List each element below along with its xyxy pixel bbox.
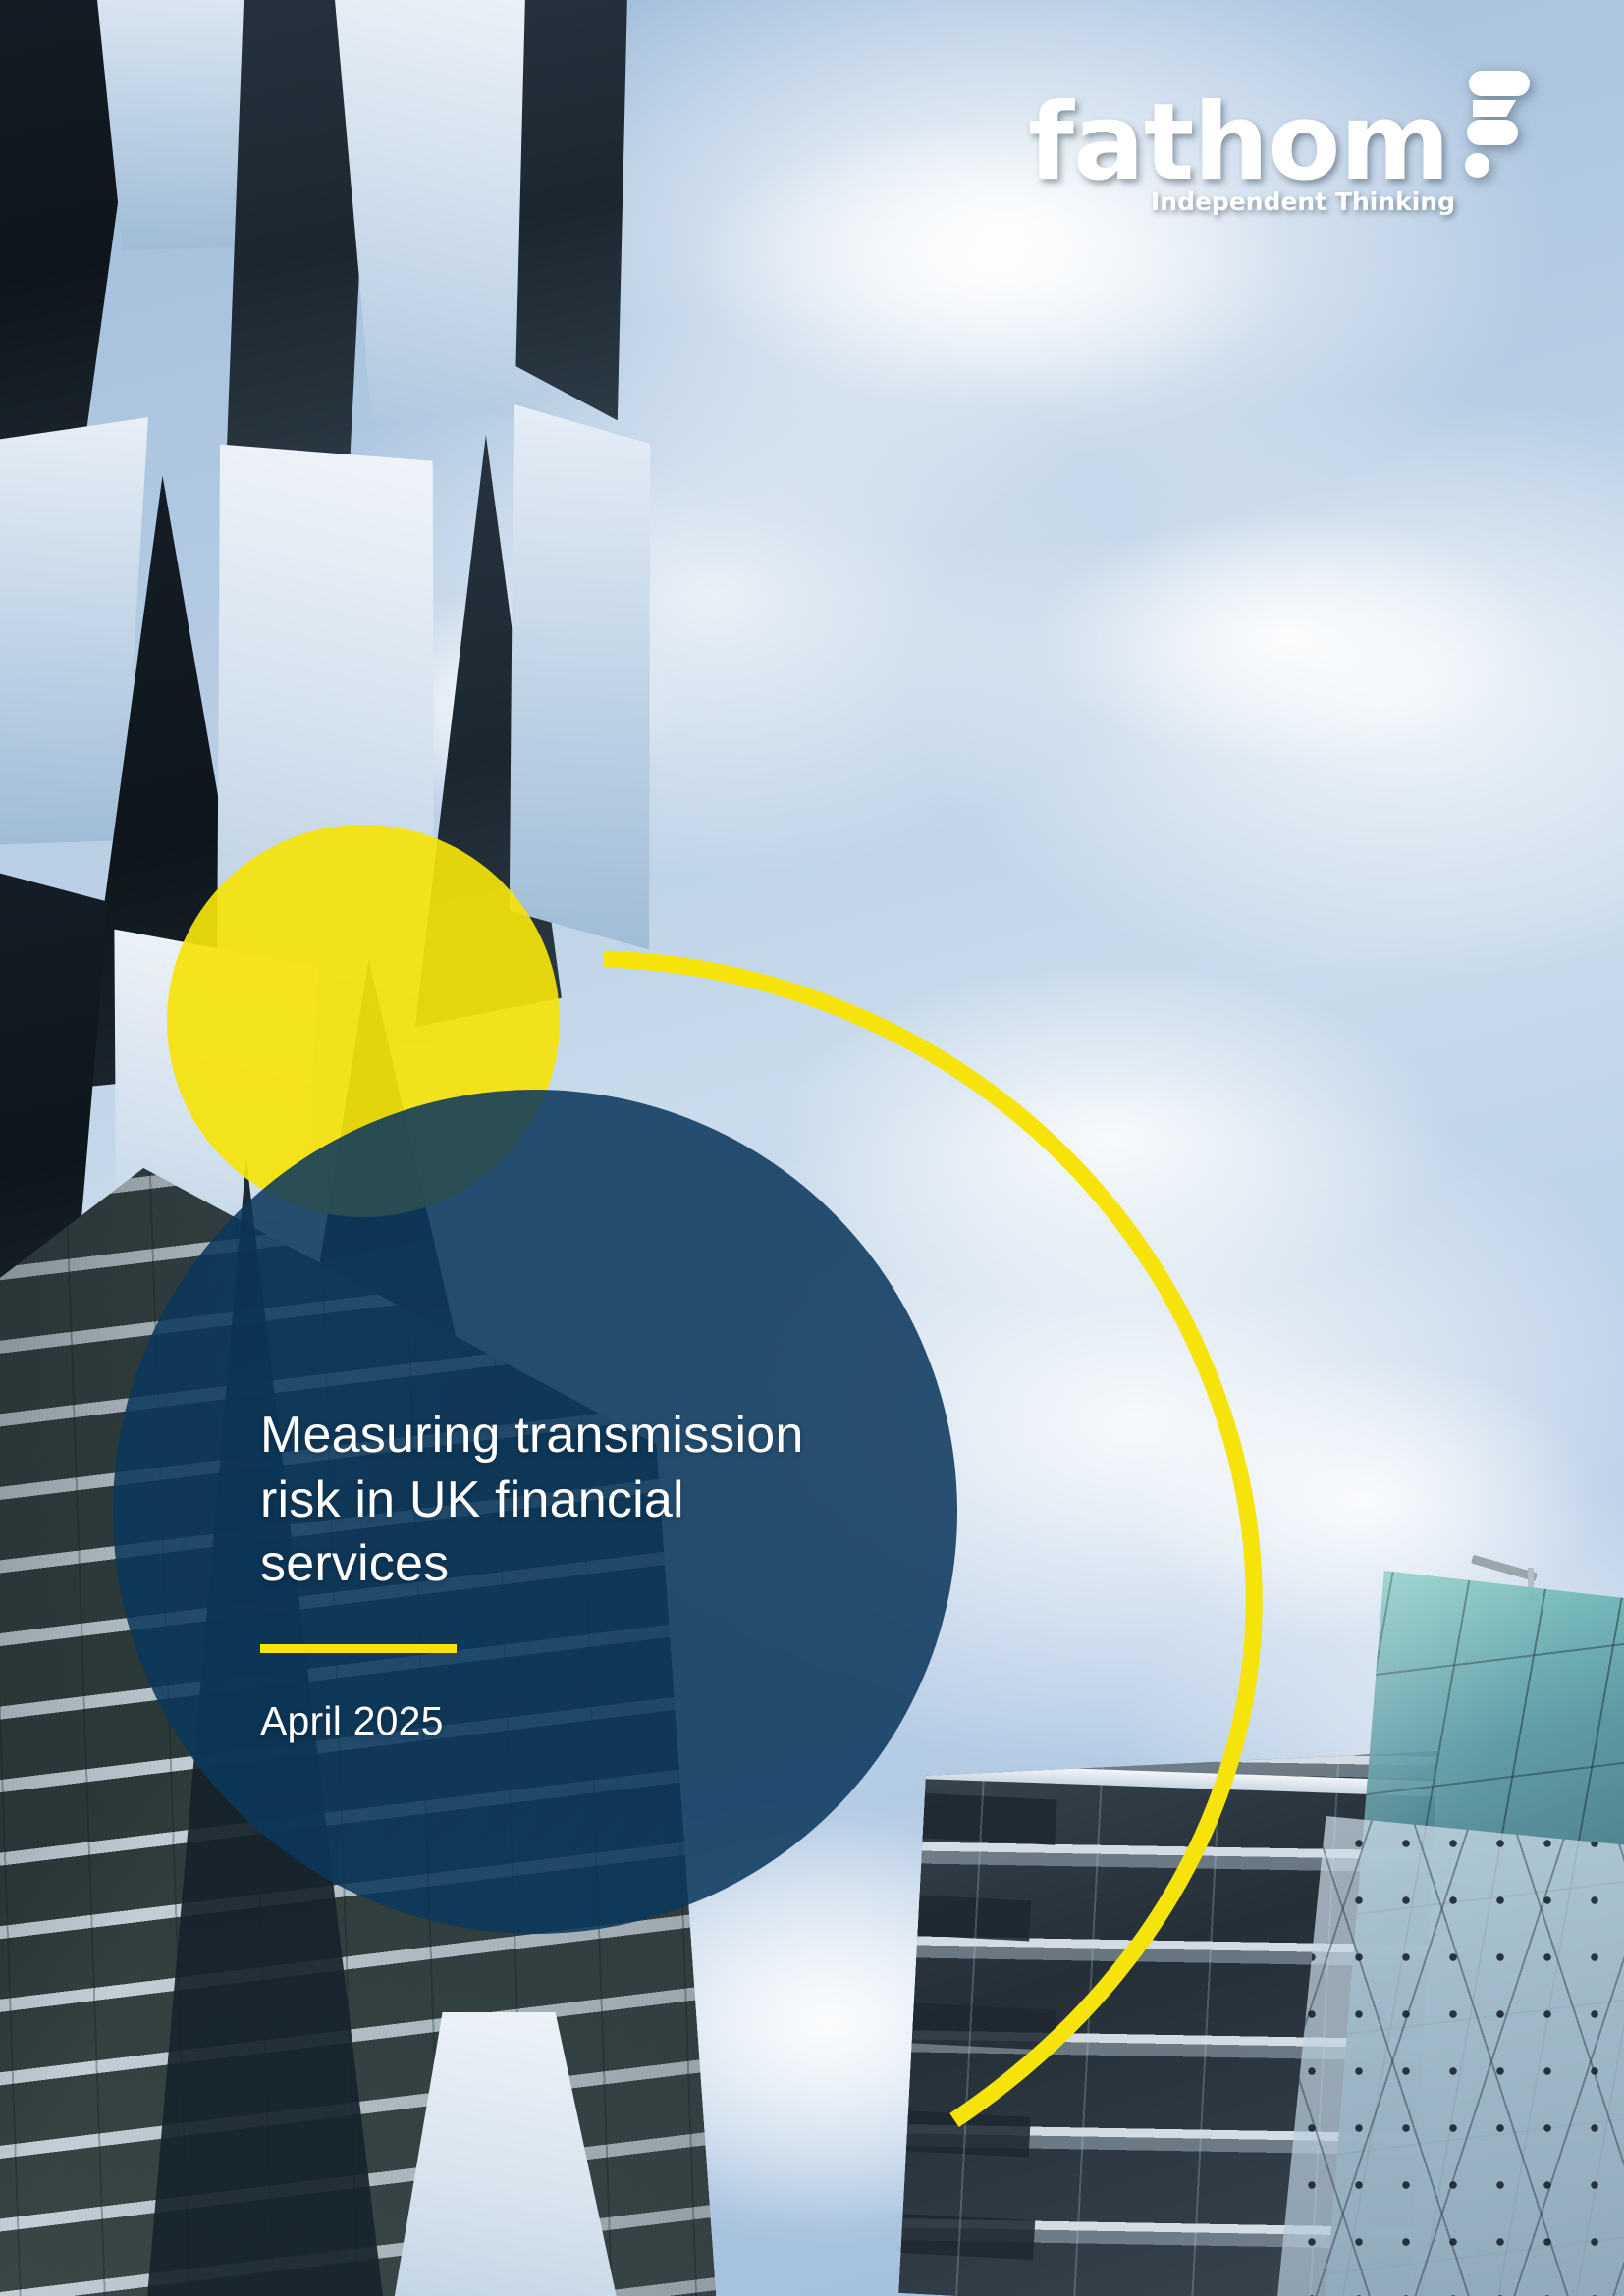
page-title-line-3: services [260, 1532, 928, 1597]
logo-bar-bottom [1467, 120, 1518, 145]
cable-node-fittings [1276, 1816, 1624, 2296]
brand-tagline: Independent Thinking [1117, 187, 1530, 216]
publication-date: April 2025 [260, 1698, 928, 1744]
cable-net-glass-wall [1276, 1816, 1624, 2296]
logo-dot [1465, 153, 1489, 178]
page-title: Measuring transmission risk in UK financ… [260, 1404, 928, 1597]
page-title-line-2: risk in UK financial [260, 1468, 928, 1533]
brand-logo: fathom Independent Thinking [1117, 71, 1530, 216]
brand-wordmark: fathom [1028, 71, 1449, 191]
title-underline-rule [260, 1644, 457, 1653]
fathom-bars-dot-icon [1463, 71, 1530, 181]
logo-bar-middle [1473, 100, 1516, 117]
page-title-line-1: Measuring transmission [260, 1404, 928, 1468]
report-cover-page: fathom Independent Thinking Measuring tr… [0, 0, 1624, 2296]
brand-logo-row: fathom [1117, 71, 1530, 191]
logo-bar-top [1469, 71, 1530, 96]
cover-title-block: Measuring transmission risk in UK financ… [260, 1404, 928, 1744]
